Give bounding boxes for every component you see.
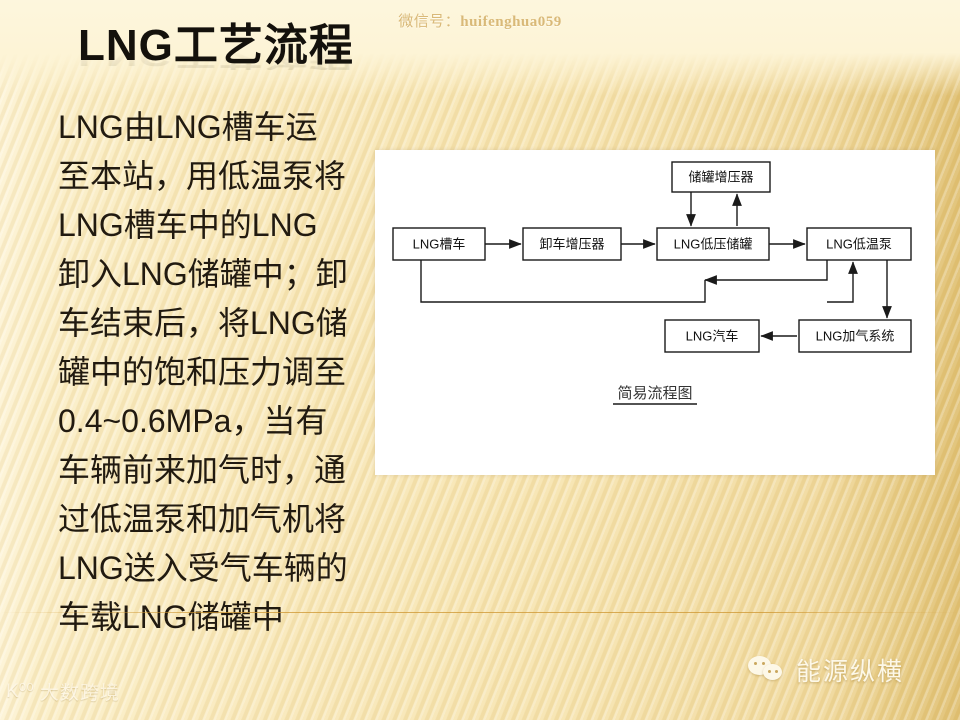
page-title: LNG工艺流程 <box>78 24 354 68</box>
node-lngcar-label: LNG汽车 <box>686 328 739 343</box>
node-fillsystem-label: LNG加气系统 <box>816 328 895 343</box>
watermark-top-prefix: 微信号： <box>398 14 460 30</box>
slide-canvas: 微信号：huifenghua059 LNG工艺流程 LNG工艺流程 LNG由LN… <box>0 0 960 720</box>
brand-group: 能源纵横 <box>748 652 904 688</box>
node-lng-car[interactable]: LNG汽车 <box>665 320 759 352</box>
watermark-bottom-left-text: 大数跨境 <box>40 678 120 705</box>
node-lptank-label: LNG低压储罐 <box>674 236 753 251</box>
watermark-logo-icon: K⁰⁰ <box>6 682 34 701</box>
body-paragraph: LNG由LNG槽车运至本站，用低温泵将LNG槽车中的LNG卸入LNG储罐中；卸车… <box>58 103 348 642</box>
diagram-caption: 简易流程图 <box>617 385 692 402</box>
brand-name: 能源纵横 <box>796 652 904 688</box>
flow-diagram-panel: LNG槽车 卸车增压器 LNG低压储罐 LNG低温泵 储罐增压器 LNG加气系统 <box>375 150 935 475</box>
watermark-bottom-left: K⁰⁰ 大数跨境 <box>6 678 120 705</box>
node-unload-label: 卸车增压器 <box>539 236 604 251</box>
node-filling-system[interactable]: LNG加气系统 <box>799 320 911 352</box>
watermark-top-account: huifenghua059 <box>460 14 562 30</box>
flow-diagram-svg: LNG槽车 卸车增压器 LNG低压储罐 LNG低温泵 储罐增压器 LNG加气系统 <box>375 150 935 475</box>
edge-tanker-return-loop <box>421 260 705 302</box>
node-tanker-label: LNG槽车 <box>413 236 466 251</box>
node-pressurizer-label: 储罐增压器 <box>688 169 753 184</box>
page-title-group: LNG工艺流程 LNG工艺流程 <box>78 24 354 68</box>
node-tank-pressurizer[interactable]: 储罐增压器 <box>672 162 770 192</box>
edge-fillsystem-to-cryopump <box>827 262 853 302</box>
node-cryogenic-pump[interactable]: LNG低温泵 <box>807 228 911 260</box>
node-tanker[interactable]: LNG槽车 <box>393 228 485 260</box>
edge-cryopump-recycle-to-lptank <box>705 260 827 280</box>
node-cryopump-label: LNG低温泵 <box>826 236 892 251</box>
node-low-pressure-tank[interactable]: LNG低压储罐 <box>657 228 769 260</box>
node-unload-pressurizer[interactable]: 卸车增压器 <box>523 228 621 260</box>
footer-divider <box>0 612 960 613</box>
wechat-icon <box>748 655 786 685</box>
